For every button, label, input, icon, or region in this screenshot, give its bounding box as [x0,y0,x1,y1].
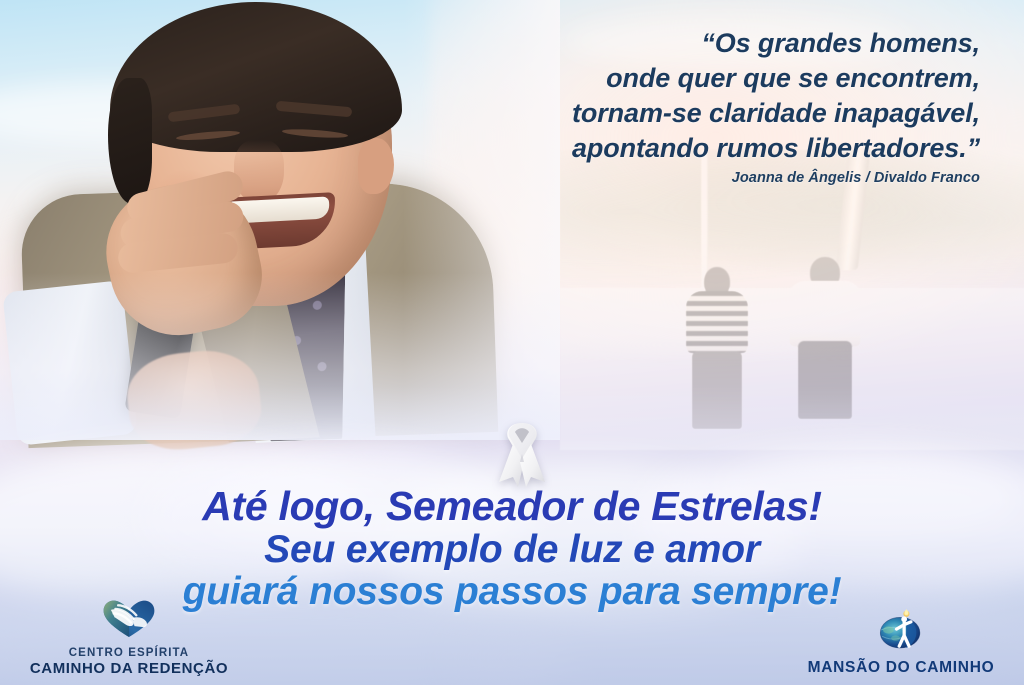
globe-figure-torch-icon [786,608,1016,657]
portrait-hair [110,2,402,152]
quote-line-1: “Os grandes homens, [420,26,980,61]
quote-text: “Os grandes homens, onde quer que se enc… [420,26,980,166]
logo-mansao-do-caminho: MANSÃO DO CAMINHO [786,608,1016,677]
logo-centro-espirita-caminho-da-redencao: CENTRO ESPÍRITA CAMINHO DA REDENÇÃO [14,596,244,677]
white-mourning-ribbon-icon [491,410,553,488]
logo-right-line-2: MANSÃO DO CAMINHO [786,659,1016,677]
headline-line-2: Seu exemplo de luz e amor [0,530,1024,570]
headline-line-1: Até logo, Semeador de Estrelas! [0,486,1024,528]
hands-heart-icon [14,596,244,645]
quote-line-2: onde quer que se encontrem, [420,61,980,96]
quote-line-4: apontando rumos libertadores.” [420,131,980,166]
logo-left-line-2: CAMINHO DA REDENÇÃO [14,660,244,677]
logo-left-line-1: CENTRO ESPÍRITA [14,647,244,659]
figure-torso [686,291,748,353]
memorial-poster: “Os grandes homens, onde quer que se enc… [0,0,1024,685]
quote-attribution: Joanna de Ângelis / Divaldo Franco [420,170,980,186]
figure-torso [789,281,861,347]
headline-block: Até logo, Semeador de Estrelas! Seu exem… [0,486,1024,611]
portrait-hair-side [108,78,152,204]
quote-line-3: tornam-se claridade inapagável, [420,96,980,131]
